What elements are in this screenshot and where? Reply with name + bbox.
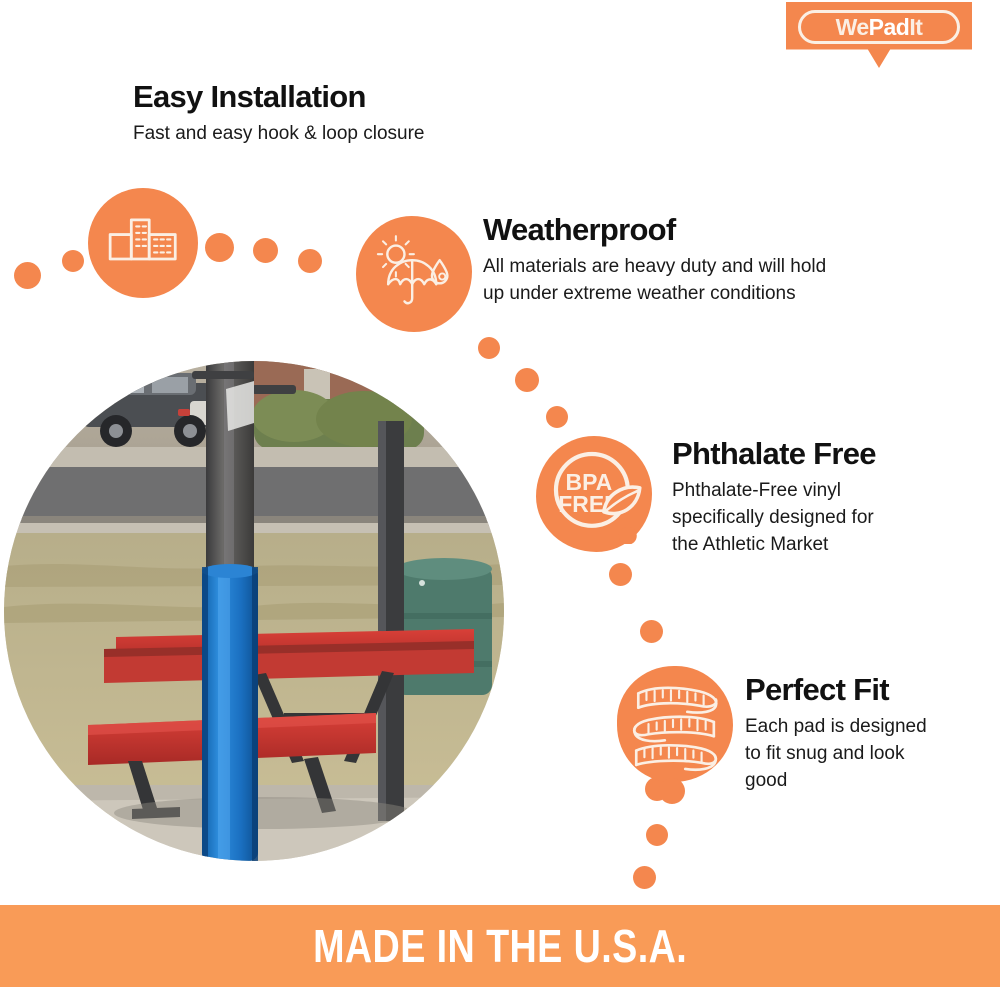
feature-line: Each pad is designed	[745, 714, 927, 741]
trail-dot	[205, 233, 234, 262]
feature-easy-installation: Easy Installation Fast and easy hook & l…	[133, 80, 425, 148]
feature-line: the Athletic Market	[672, 532, 876, 559]
trail-dot	[478, 337, 500, 359]
trail-dot	[633, 866, 656, 889]
brand-logo: WePadIt	[786, 2, 972, 68]
trail-dot	[546, 406, 568, 428]
feature-line: to fit snug and look	[745, 741, 927, 768]
trail-dot	[298, 249, 322, 273]
feature-description: Fast and easy hook & loop closure	[133, 121, 425, 148]
tape-measure-glyph	[624, 673, 726, 775]
tape-measure-icon	[617, 666, 733, 782]
building-install-icon	[88, 188, 198, 298]
made-in-usa-banner: MADE IN THE U.S.A.	[0, 905, 1000, 987]
trail-dot	[640, 620, 663, 643]
bpa-free-glyph: BPA FREE	[544, 444, 644, 544]
feature-heading: Perfect Fit	[745, 673, 927, 707]
feature-description: All materials are heavy duty and will ho…	[483, 254, 826, 308]
feature-phthalate-free: Phthalate Free Phthalate-Free vinyl spec…	[672, 437, 876, 559]
weatherproof-glyph	[371, 231, 457, 317]
building-install-glyph	[102, 202, 183, 283]
banner-text: MADE IN THE U.S.A.	[313, 919, 687, 973]
feature-line: good	[745, 768, 927, 795]
trail-dot	[253, 238, 278, 263]
blue-padded-pole-picnic-table-photo	[4, 361, 504, 861]
logo-word-pad: Pad	[869, 14, 910, 40]
sun-umbrella-rain-icon	[356, 216, 472, 332]
feature-description: Each pad is designed to fit snug and loo…	[745, 714, 927, 795]
feature-line: up under extreme weather conditions	[483, 281, 826, 308]
bpa-free-leaf-icon: BPA FREE	[536, 436, 652, 552]
trail-dot	[14, 262, 41, 289]
trail-dot	[609, 563, 632, 586]
feature-line: All materials are heavy duty and will ho…	[483, 254, 826, 281]
feature-description: Phthalate-Free vinyl specifically design…	[672, 478, 876, 559]
photo-illustration	[4, 361, 504, 861]
logo-wordmark: WePadIt	[836, 16, 923, 39]
feature-perfect-fit: Perfect Fit Each pad is designed to fit …	[745, 673, 927, 795]
trail-dot	[646, 824, 668, 846]
feature-weatherproof: Weatherproof All materials are heavy dut…	[483, 213, 826, 308]
feature-heading: Weatherproof	[483, 213, 826, 247]
feature-line: Fast and easy hook & loop closure	[133, 121, 425, 148]
feature-heading: Easy Installation	[133, 80, 425, 114]
feature-line: Phthalate-Free vinyl	[672, 478, 876, 505]
feature-line: specifically designed for	[672, 505, 876, 532]
logo-word-it: It	[909, 14, 922, 40]
trail-dot	[62, 250, 84, 272]
infographic-page: WePadIt	[0, 0, 1000, 987]
logo-outline-box: WePadIt	[798, 10, 960, 44]
logo-word-we: We	[836, 14, 869, 40]
tape-measure-tab	[659, 778, 685, 804]
feature-heading: Phthalate Free	[672, 437, 876, 471]
trail-dot	[515, 368, 539, 392]
